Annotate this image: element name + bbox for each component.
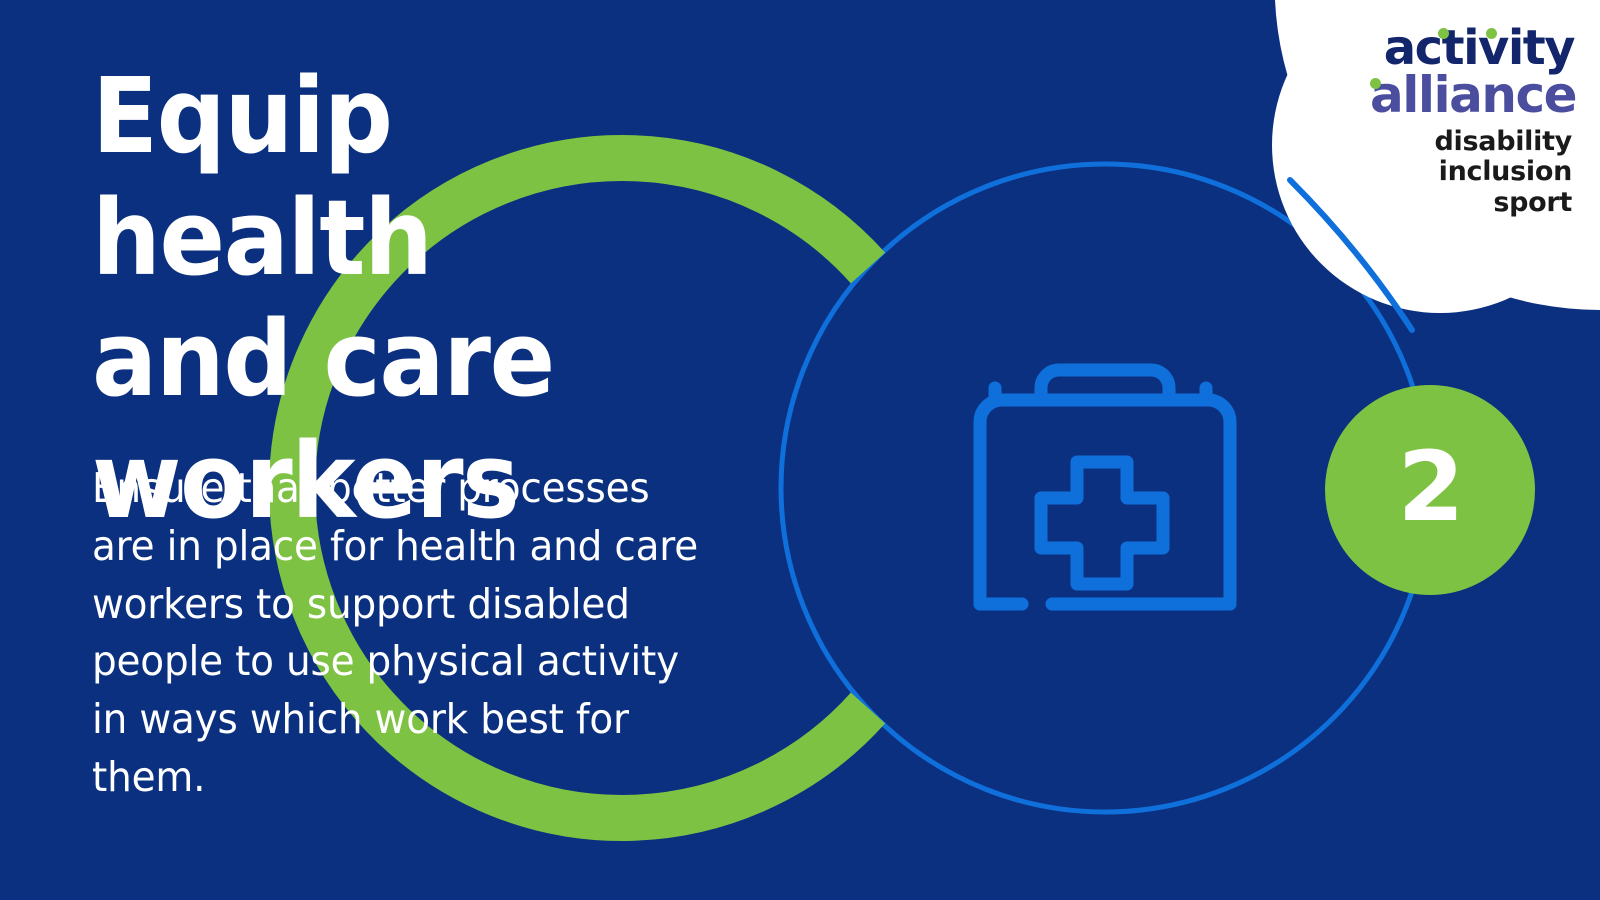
logo-word-activity: activity — [1296, 26, 1576, 70]
logo-dot-icon — [1370, 78, 1381, 89]
body-paragraph: Ensure that better processes are in plac… — [92, 460, 700, 807]
activity-alliance-logo: activity alliance disability inclusion s… — [1296, 26, 1576, 218]
logo-dot-icon — [1486, 28, 1497, 39]
logo-word-alliance: alliance — [1296, 72, 1576, 118]
logo-tagline: disability inclusion sport — [1296, 127, 1576, 218]
step-number-label: 2 — [1325, 385, 1535, 595]
infographic-slide: Equip health and care workers Ensure tha… — [0, 0, 1600, 900]
logo-dot-icon — [1438, 28, 1449, 39]
medical-bag-icon — [980, 370, 1230, 604]
